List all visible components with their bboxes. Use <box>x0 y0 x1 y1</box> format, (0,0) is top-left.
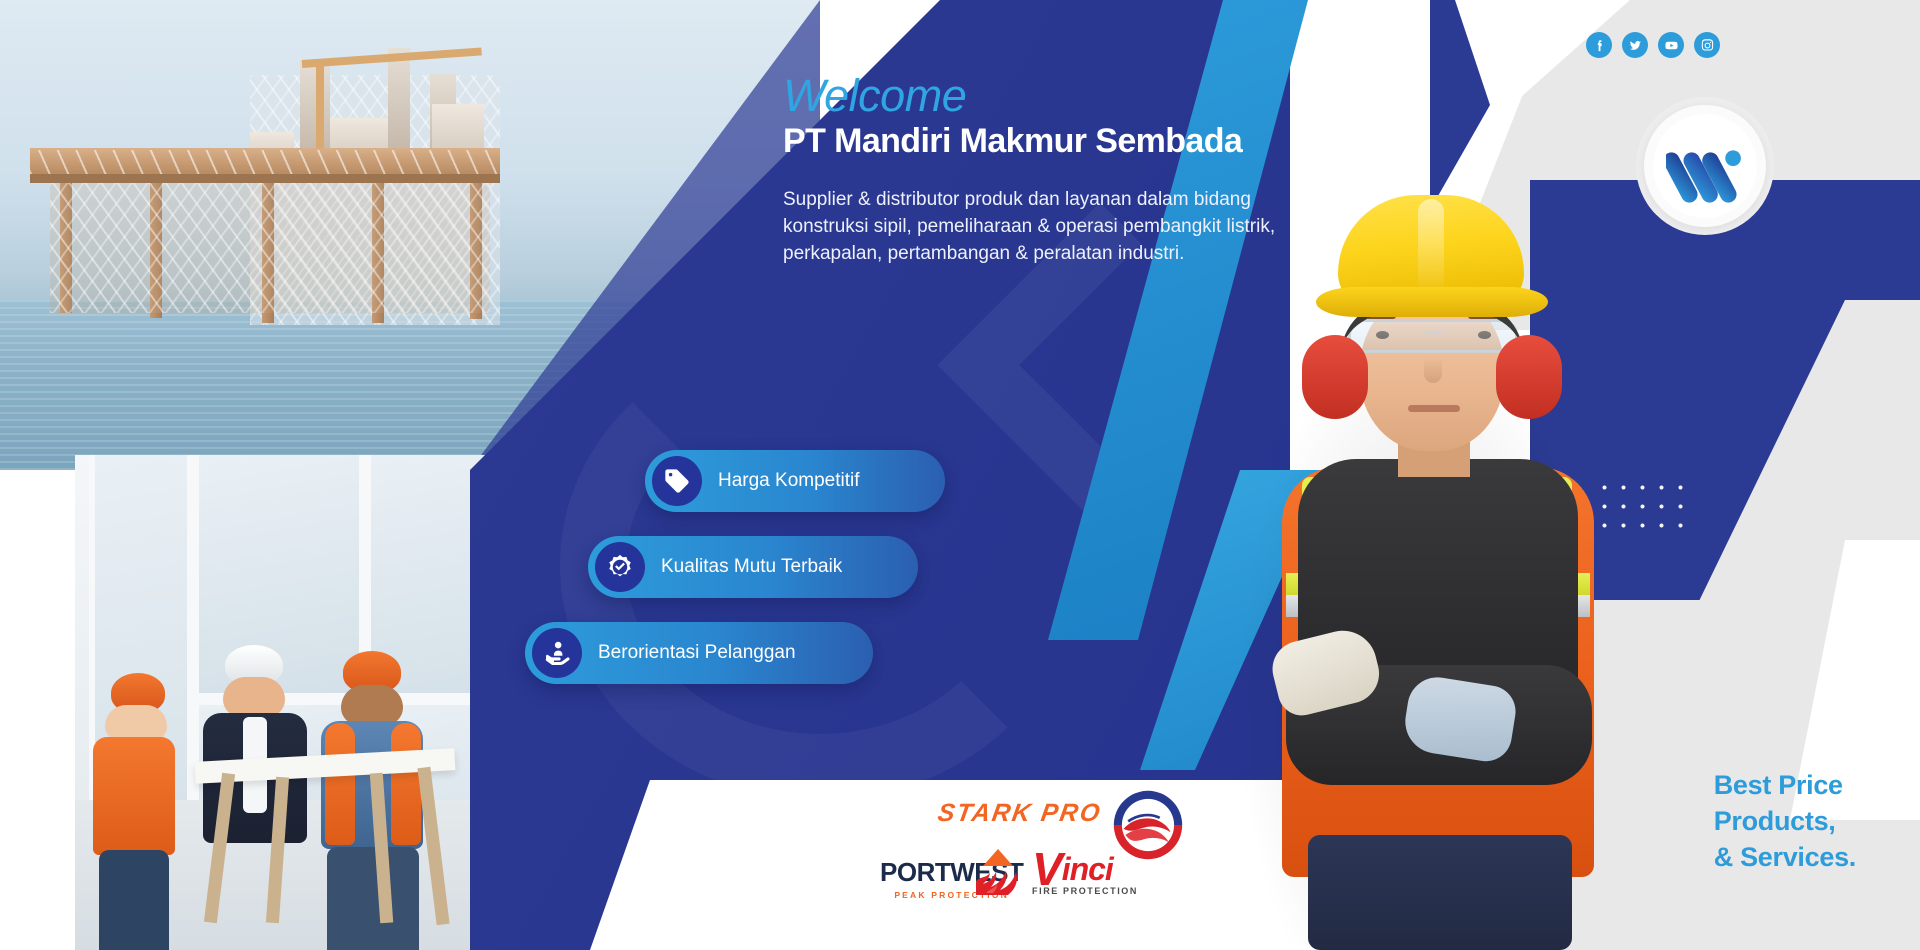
quality-badge-check-icon <box>595 542 645 592</box>
feature-pill-berorientasi-pelanggan[interactable]: Berorientasi Pelanggan <box>525 622 873 684</box>
stark-pro-logo: STARK PRO <box>936 799 1104 828</box>
partner-logos: STARK PRO PORTWEST PEAK PROTECTION <box>880 795 1220 915</box>
person-legs <box>99 850 169 950</box>
tagline-block: Best Price Products, & Services. <box>1714 768 1856 876</box>
hard-hat-brim <box>1316 287 1548 317</box>
rig-jacket-bracing <box>50 183 490 313</box>
feature-pill-list: Harga Kompetitif Kualitas Mutu Terbaik B… <box>525 450 945 684</box>
feature-pill-label: Kualitas Mutu Terbaik <box>661 556 842 578</box>
m-monogram-logo-icon <box>1666 127 1744 205</box>
vinci-logo: V inci FIRE PROTECTION <box>1032 851 1138 896</box>
feature-pill-label: Berorientasi Pelanggan <box>598 642 796 664</box>
page-title: PT Mandiri Makmur Sembada <box>783 121 1343 161</box>
safety-vest <box>93 737 175 855</box>
person-legs <box>327 847 419 950</box>
ear-defender-right <box>1496 335 1562 419</box>
hard-hat-ridge <box>1418 199 1444 294</box>
price-tag-icon <box>652 456 702 506</box>
customer-service-hand-icon <box>532 628 582 678</box>
person-head <box>223 677 285 717</box>
construction-worker-photo <box>1190 195 1660 950</box>
person-head <box>341 685 403 725</box>
social-links <box>1586 32 1720 58</box>
hero-eyebrow: Welcome <box>783 72 1343 119</box>
feature-pill-label: Harga Kompetitif <box>718 470 860 492</box>
flame-icon <box>974 855 1044 899</box>
twitter-icon[interactable] <box>1622 32 1648 58</box>
tagline-line-2: Products, <box>1714 804 1856 840</box>
person-head <box>105 705 167 741</box>
facebook-icon[interactable] <box>1586 32 1612 58</box>
ear-defender-left <box>1302 335 1368 419</box>
worker-pants <box>1308 835 1572 950</box>
rig-deck-underside <box>30 174 500 183</box>
tagline-line-1: Best Price <box>1714 768 1856 804</box>
feature-pill-harga-kompetitif[interactable]: Harga Kompetitif <box>645 450 945 512</box>
safety-vest <box>325 723 355 845</box>
worker-mouth <box>1408 405 1460 412</box>
tagline-line-3: & Services. <box>1714 840 1856 876</box>
worker-nose <box>1424 357 1442 383</box>
safety-vest <box>391 723 421 845</box>
company-logo-badge[interactable] <box>1636 97 1774 235</box>
rig-truss <box>30 150 500 174</box>
instagram-icon[interactable] <box>1694 32 1720 58</box>
hero-banner: Welcome PT Mandiri Makmur Sembada Suppli… <box>0 0 1920 950</box>
vinci-tagline: FIRE PROTECTION <box>1032 886 1138 896</box>
feature-pill-kualitas-mutu-terbaik[interactable]: Kualitas Mutu Terbaik <box>588 536 918 598</box>
youtube-icon[interactable] <box>1658 32 1684 58</box>
vinci-wordmark: inci <box>1062 851 1113 888</box>
